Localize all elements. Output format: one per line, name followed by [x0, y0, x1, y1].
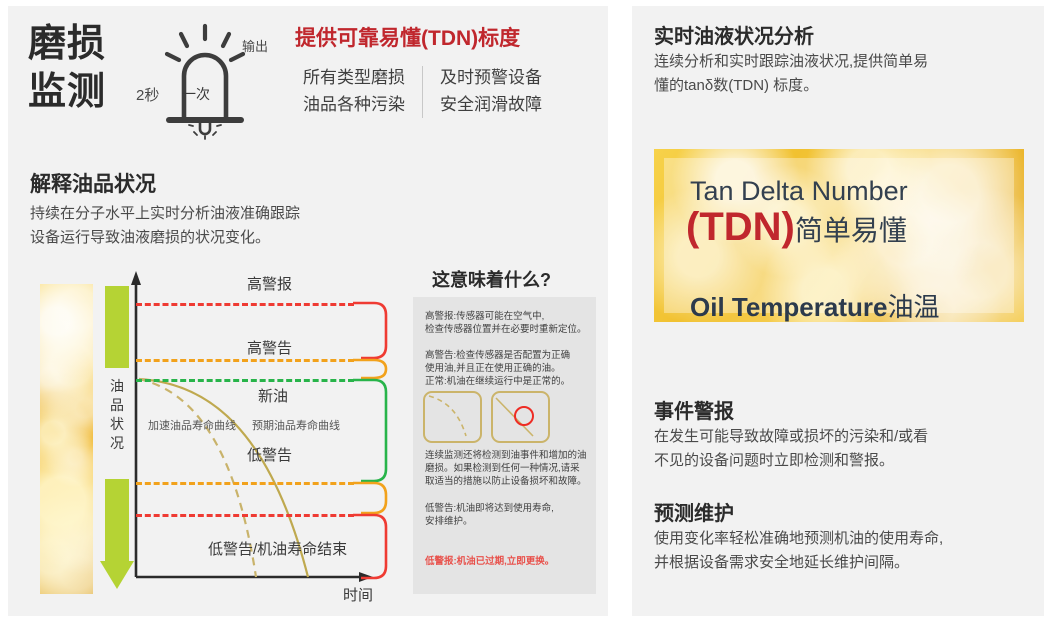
section-subtext-line1: 持续在分子水平上实时分析油液准确跟踪 [30, 202, 300, 226]
realtime-analysis-text: 连续分析和实时跟踪油液状况,提供简单易 懂的tanδ数(TDN) 标度。 [654, 50, 928, 98]
oil-temperature-cn: 油温 [887, 292, 939, 322]
hero-feature-2-line1: 及时预警设备 [440, 64, 542, 91]
exp-b3-l1: 正常:机油在继续运行中是正常的。 [425, 375, 570, 388]
hero-title: 磨损 监测 [28, 20, 106, 116]
explanation-block-low-warning: 低警告:机油即将达到使用寿命, 安排维护。 [425, 502, 554, 528]
hero-feature-columns: 所有类型磨损 油品各种污染 及时预警设备 安全润滑故障 [303, 64, 542, 118]
led-output-icon-group: 2秒 输出 一次 [136, 22, 286, 140]
threshold-line-low-alarm [136, 514, 354, 517]
led-output-label: 输出 [242, 36, 268, 55]
explanation-block-high-alarm: 高警报:传感器可能在空气中, 检查传感器位置并在必要时重新定位。 [425, 310, 587, 336]
threshold-label-low-alarm: 低警告/机油寿命结束 [208, 538, 347, 559]
mini-event-icon [493, 393, 544, 437]
bracket-low-alarm [353, 515, 386, 578]
bracket-low-warning [353, 483, 386, 513]
hero-feature-2-line2: 安全润滑故障 [440, 91, 542, 118]
tdn-card-line2: (TDN)简单易懂 [686, 205, 907, 250]
infographic-page: 磨损 监测 [0, 0, 1052, 622]
threshold-line-new-oil [136, 379, 354, 382]
event-alarm-heading: 事件警报 [654, 395, 734, 424]
hero-feature-1-line1: 所有类型磨损 [303, 64, 405, 91]
section-heading: 解释油品状况 [30, 168, 156, 198]
hero-section: 磨损 监测 [8, 6, 608, 141]
threshold-line-high-alarm [136, 303, 354, 306]
explanation-box: 高警报:传感器可能在空气中, 检查传感器位置并在必要时重新定位。 高警告:检查传… [413, 297, 596, 594]
event-alarm-line1: 在发生可能导致故障或损坏的污染和/或看 [654, 425, 928, 449]
section-subtext: 持续在分子水平上实时分析油液准确跟踪 设备运行导致油液磨损的状况变化。 [30, 202, 300, 250]
tdn-oil-card: Tan Delta Number (TDN)简单易懂 Oil Temperatu… [654, 149, 1024, 322]
event-alarm-text: 在发生可能导致故障或损坏的污染和/或看 不见的设备问题时立即检测和警报。 [654, 425, 928, 473]
exp-b1-l1: 高警报:传感器可能在空气中, [425, 310, 587, 323]
predictive-maintenance-text: 使用变化率轻松准确地预测机油的使用寿命, 并根据设备需求安全地延长维护间隔。 [654, 527, 943, 575]
curve-label-accelerated: 加速油品寿命曲线 [148, 417, 236, 433]
event-alarm-line2: 不见的设备问题时立即检测和警报。 [654, 449, 928, 473]
exp-b6-l1: 低警报:机油已过期,立即更换。 [425, 555, 554, 568]
exp-b4-l3: 取适当的措施以防止设备损坏和故障。 [425, 475, 587, 488]
exp-b2-l2: 使用油,并且正在使用正确的油。 [425, 362, 570, 375]
bracket-high-warning [353, 360, 386, 378]
mini-chart-trend [423, 391, 482, 443]
threshold-label-new-oil: 新油 [258, 385, 288, 406]
mini-chart-event [491, 391, 550, 443]
tdn-card-line2-cn: 简单易懂 [795, 215, 907, 246]
predictive-maintenance-line2: 并根据设备需求安全地延长维护间隔。 [654, 551, 943, 575]
predictive-maintenance-line1: 使用变化率轻松准确地预测机油的使用寿命, [654, 527, 943, 551]
led-interval-label: 2秒 [136, 84, 159, 105]
exp-b2-l1: 高警告:检查传感器是否配置为正确 [425, 349, 570, 362]
explanation-block-normal: 正常:机油在继续运行中是正常的。 [425, 375, 570, 388]
bracket-high-alarm [353, 303, 386, 358]
oil-temperature-en: Oil Temperature [690, 292, 887, 322]
exp-b4-l2: 磨损。如果检测到任何一种情况,请采 [425, 462, 587, 475]
hero-feature-col-2: 及时预警设备 安全润滑故障 [440, 64, 542, 118]
threshold-label-high-alarm: 高警报 [247, 273, 292, 294]
threshold-label-low-warning: 低警告 [247, 444, 292, 465]
exp-b5-l2: 安排维护。 [425, 515, 554, 528]
predictive-maintenance-heading: 预测维护 [654, 497, 734, 526]
threshold-line-high-warning [136, 359, 354, 362]
curve-label-expected: 预期油品寿命曲线 [252, 417, 340, 433]
tdn-abbrev: (TDN) [686, 205, 795, 249]
x-axis-label: 时间 [343, 584, 373, 605]
explanation-block-continuous: 连续监测还将检测到油事件和增加的油 磨损。如果检测到任何一种情况,请采 取适当的… [425, 449, 587, 488]
explanation-title: 这意味着什么? [432, 266, 551, 292]
hero-title-line1: 磨损 [28, 20, 106, 68]
hero-headline: 提供可靠易懂(TDN)标度 [295, 22, 520, 52]
hero-feature-col-1: 所有类型磨损 油品各种污染 [303, 64, 405, 118]
right-panel: 实时油液状况分析 连续分析和实时跟踪油液状况,提供简单易 懂的tanδ数(TDN… [632, 6, 1044, 616]
left-panel: 磨损 监测 [8, 6, 608, 616]
realtime-analysis-line2: 懂的tanδ数(TDN) 标度。 [654, 74, 928, 98]
exp-b1-l2: 检查传感器位置并在必要时重新定位。 [425, 323, 587, 336]
threshold-line-low-warning [136, 482, 354, 485]
tdn-card-line1: Tan Delta Number [690, 176, 908, 207]
tdn-card-line3: Oil Temperature油温 [690, 287, 939, 324]
tdn-card-overlay: Tan Delta Number (TDN)简单易懂 Oil Temperatu… [664, 158, 1014, 313]
y-axis-arrow [131, 271, 141, 285]
mini-trend-icon [425, 393, 476, 437]
led-once-label: 一次 [182, 84, 210, 104]
exp-b5-l1: 低警告:机油即将达到使用寿命, [425, 502, 554, 515]
section-subtext-line2: 设备运行导致油液磨损的状况变化。 [30, 226, 300, 250]
hero-title-line2: 监测 [28, 68, 106, 116]
realtime-analysis-line1: 连续分析和实时跟踪油液状况,提供简单易 [654, 50, 928, 74]
realtime-analysis-heading: 实时油液状况分析 [654, 20, 814, 49]
explanation-block-low-alarm: 低警报:机油已过期,立即更换。 [425, 555, 554, 568]
hero-column-divider [422, 66, 423, 118]
exp-b4-l1: 连续监测还将检测到油事件和增加的油 [425, 449, 587, 462]
threshold-label-high-warning: 高警告 [247, 337, 292, 358]
explanation-block-high-warning: 高警告:检查传感器是否配置为正确 使用油,并且正在使用正确的油。 [425, 349, 570, 375]
hero-feature-1-line2: 油品各种污染 [303, 91, 405, 118]
bracket-normal [353, 380, 386, 481]
